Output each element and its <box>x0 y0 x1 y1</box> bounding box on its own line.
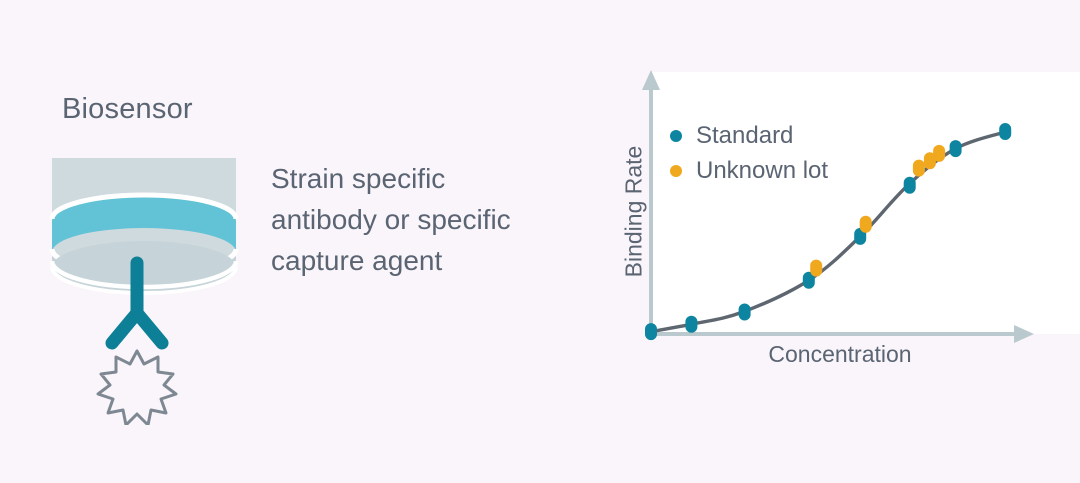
description-line-1: Strain specific <box>271 158 591 199</box>
data-point-layer <box>645 123 1011 340</box>
data-point-unknown-lot[interactable] <box>933 145 945 162</box>
x-axis-label: Concentration <box>652 341 1028 368</box>
y-axis-label: Binding Rate <box>621 137 648 287</box>
chart-canvas <box>600 0 1080 483</box>
biosensor-panel: Biosensor Strai <box>0 0 600 483</box>
data-point-unknown-lot[interactable] <box>913 160 925 177</box>
description-line-2: antibody or specific <box>271 199 591 240</box>
data-point-standard[interactable] <box>999 123 1011 140</box>
data-point-unknown-lot[interactable] <box>810 260 822 277</box>
description-line-3: capture agent <box>271 240 591 281</box>
pathogen-particle-icon <box>98 351 176 425</box>
legend-dot-standard <box>670 130 682 142</box>
legend-label-standard: Standard <box>696 124 793 148</box>
legend-item-standard[interactable]: Standard <box>670 124 793 148</box>
y-axis-arrowhead <box>642 70 660 90</box>
biosensor-probe-illustration <box>34 145 244 425</box>
biosensor-title: Biosensor <box>62 93 193 126</box>
data-point-standard[interactable] <box>645 323 657 340</box>
binding-curve-chart: Binding Rate Concentration Standard Unkn… <box>600 0 1080 483</box>
data-point-standard[interactable] <box>904 177 916 194</box>
data-point-standard[interactable] <box>950 140 962 157</box>
legend-dot-unknown-lot <box>670 165 682 177</box>
data-point-unknown-lot[interactable] <box>860 216 872 233</box>
capture-agent-description: Strain specific antibody or specific cap… <box>271 158 591 281</box>
legend-label-unknown-lot: Unknown lot <box>696 159 828 183</box>
illustration-stage: Biosensor Strai <box>0 0 1080 483</box>
legend-item-unknown-lot[interactable]: Unknown lot <box>670 159 828 183</box>
data-point-standard[interactable] <box>739 304 751 321</box>
data-point-standard[interactable] <box>685 316 697 333</box>
